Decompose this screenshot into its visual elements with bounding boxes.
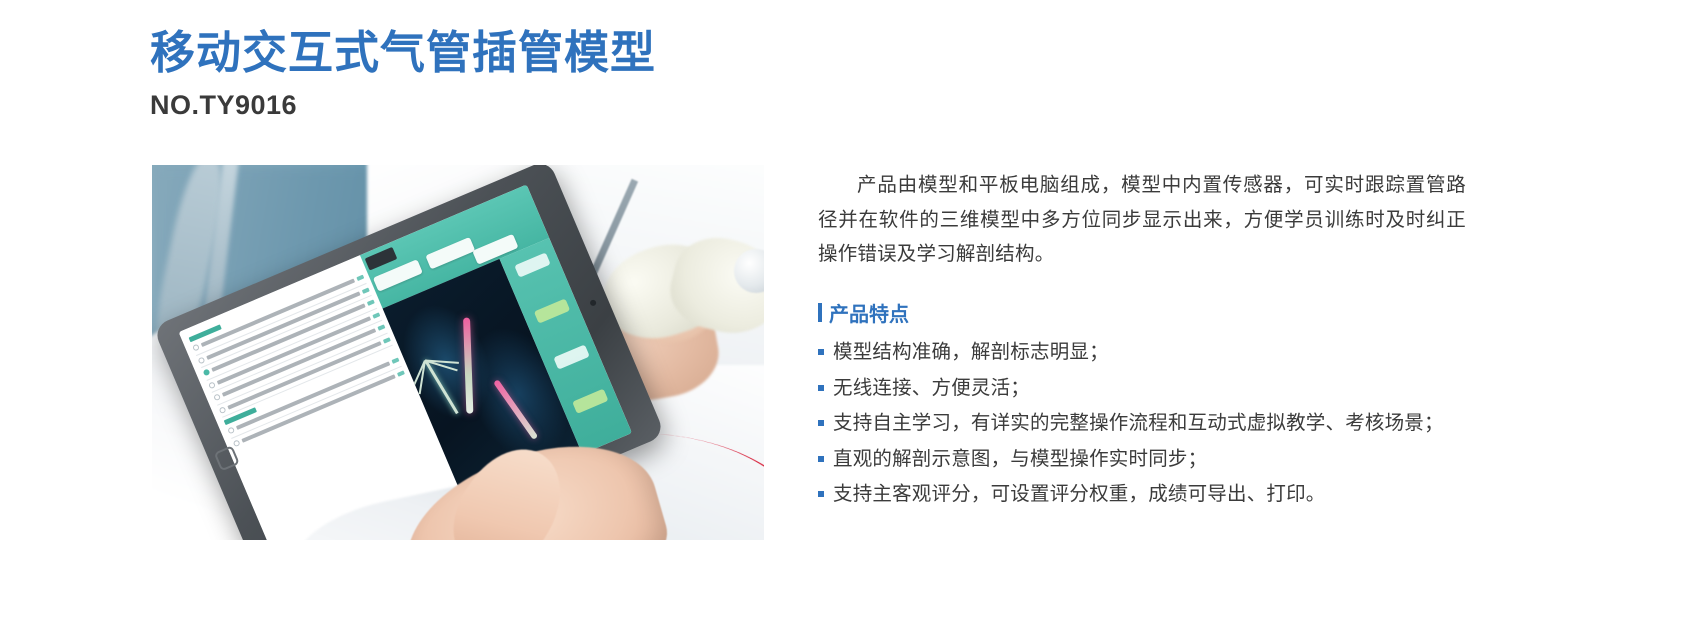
square-bullet-icon [818,456,824,462]
checkbox-icon [218,406,226,414]
bronchial-tree-icon [424,359,459,414]
product-code: NO.TY9016 [150,90,656,121]
list-item: 无线连接、方便灵活； [818,372,1466,406]
checkbox-icon [233,439,241,447]
list-item: 直观的解剖示意图，与模型操作实时同步； [818,443,1466,477]
header: 移动交互式气管插管模型 NO.TY9016 [150,28,656,121]
square-bullet-icon [818,385,824,391]
photo-scene [152,165,764,540]
feature-text: 无线连接、方便灵活； [833,372,1466,406]
square-bullet-icon [818,420,824,426]
heading-accent-bar [818,303,822,322]
page-title: 移动交互式气管插管模型 [150,28,656,78]
checkbox-icon [227,426,235,434]
checkbox-icon [208,381,216,389]
product-brochure-page: 移动交互式气管插管模型 NO.TY9016 [0,0,1700,620]
feature-text: 支持自主学习，有详实的完整操作流程和互动式虚拟教学、考核场景； [833,407,1466,441]
intro-paragraph: 产品由模型和平板电脑组成，模型中内置传感器，可实时跟踪置管路径并在软件的三维模型… [818,168,1466,272]
square-bullet-icon [818,349,824,355]
list-item: 模型结构准确，解剖标志明显； [818,336,1466,370]
content-column: 产品由模型和平板电脑组成，模型中内置传感器，可实时跟踪置管路径并在软件的三维模型… [818,168,1466,514]
endotracheal-tube-icon [463,318,473,414]
feature-text: 直观的解剖示意图，与模型操作实时同步； [833,443,1466,477]
product-photo [152,165,764,540]
features-heading: 产品特点 [818,298,1466,327]
endotracheal-tube-secondary-icon [493,379,538,440]
features-section: 产品特点 模型结构准确，解剖标志明显； 无线连接、方便灵活； 支持自主学习，有详… [818,298,1466,512]
list-item: 支持自主学习，有详实的完整操作流程和互动式虚拟教学、考核场景； [818,407,1466,441]
checkbox-icon [197,356,205,364]
checkbox-icon [192,344,200,352]
list-item: 支持主客观评分，可设置评分权重，成绩可导出、打印。 [818,478,1466,512]
square-bullet-icon [818,491,824,497]
feature-text: 模型结构准确，解剖标志明显； [833,336,1466,370]
features-heading-label: 产品特点 [829,298,909,327]
features-list: 模型结构准确，解剖标志明显； 无线连接、方便灵活； 支持自主学习，有详实的完整操… [818,336,1466,512]
tablet-camera-icon [589,299,597,307]
feature-text: 支持主客观评分，可设置评分权重，成绩可导出、打印。 [833,478,1466,512]
checkbox-icon [203,368,211,376]
checkbox-icon [213,393,221,401]
